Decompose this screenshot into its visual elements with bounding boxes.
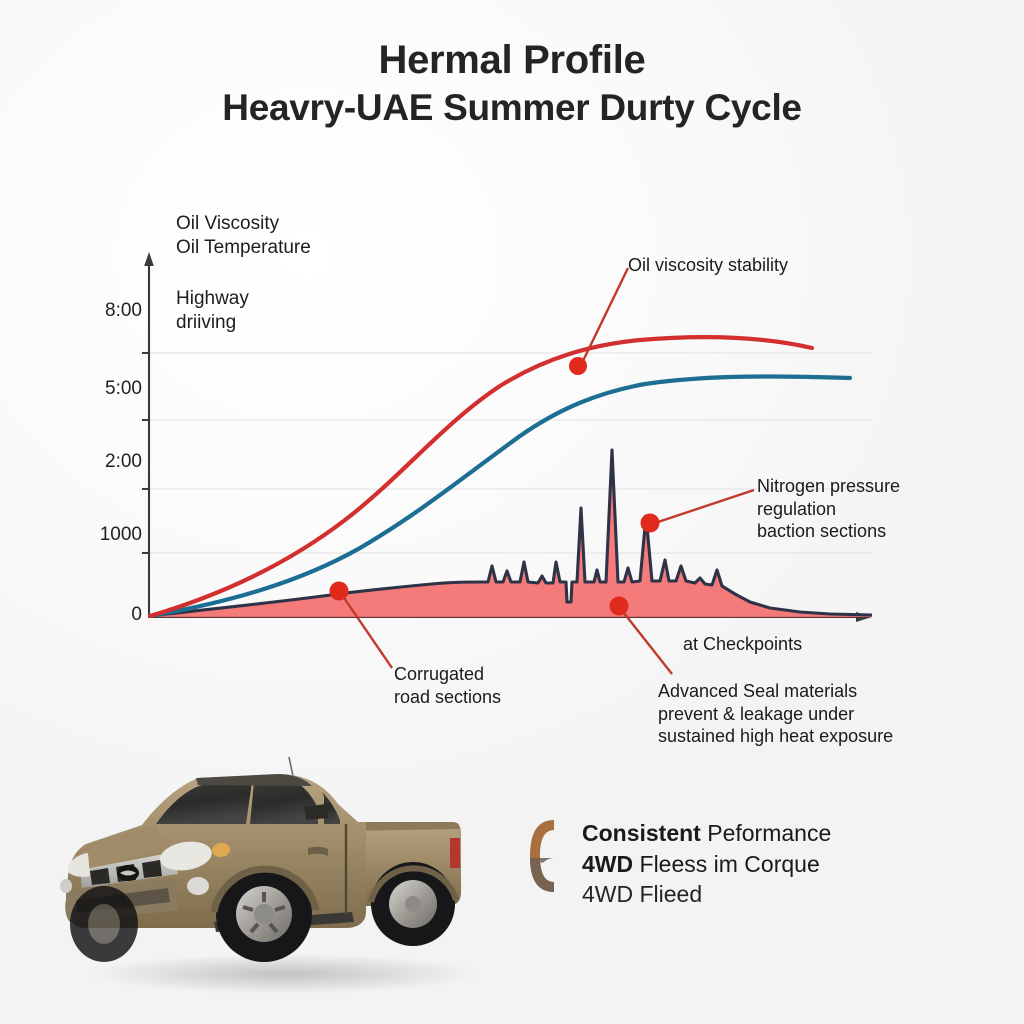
infographic-page: Hermal Profile Heavry-UAE Summer Durty C… bbox=[0, 0, 1024, 1024]
caption-line-2: 4WD Fleess im Corque bbox=[582, 849, 831, 880]
caption-line-1-bold: Consistent bbox=[582, 820, 701, 846]
annotation-corrugated-line-2: road sections bbox=[394, 686, 501, 709]
leader-viscosity-stability bbox=[580, 268, 628, 367]
dot-viscosity-stability bbox=[569, 357, 587, 375]
caption-line-1: Consistent Peformance bbox=[582, 818, 831, 849]
annotation-nitrogen-line-2: regulation bbox=[757, 498, 900, 521]
y-axis-tick-labels: 8:00 5:00 2:00 1000 0 bbox=[62, 190, 142, 790]
legend-item-oil-temperature: Oil Temperature bbox=[176, 236, 311, 260]
caption-line-1-rest: Peformance bbox=[701, 820, 831, 846]
pickup-truck-photo bbox=[46, 752, 526, 1002]
annotation-seal-line-2: prevent & leakage under bbox=[658, 703, 893, 726]
legend-item-oil-viscosity: Oil Viscosity bbox=[176, 212, 311, 236]
arrow-up-icon bbox=[144, 252, 154, 266]
truck-tail-light bbox=[450, 838, 460, 868]
y-tick-5000: 5:00 bbox=[72, 378, 142, 400]
legend-spacer bbox=[176, 261, 311, 287]
dot-seal bbox=[610, 597, 629, 616]
y-tick-8000: 8:00 bbox=[72, 300, 142, 322]
truck-fog-light bbox=[187, 877, 209, 895]
y-tick-2000: 2:00 bbox=[72, 451, 142, 473]
annotation-viscosity-stability: Oil viscosity stability bbox=[628, 254, 788, 277]
annotation-viscosity-stability-text: Oil viscosity stability bbox=[628, 254, 788, 277]
title-line-1: Hermal Profile bbox=[0, 38, 1024, 83]
title-line-2: Heavry-UAE Summer Durty Cycle bbox=[0, 87, 1024, 128]
series-oil-viscosity bbox=[150, 376, 850, 616]
caption-text: Consistent Peformance 4WD Fleess im Corq… bbox=[582, 818, 831, 910]
annotation-nitrogen-line-1: Nitrogen pressure bbox=[757, 475, 900, 498]
truck-wheel-rear bbox=[371, 862, 455, 946]
annotation-nitrogen-line-3: baction sections bbox=[757, 520, 900, 543]
legend-item-driving: driiving bbox=[176, 311, 311, 335]
annotation-corrugated-line-1: Corrugated bbox=[394, 663, 501, 686]
leader-nitrogen bbox=[652, 490, 754, 524]
caption-block: Consistent Peformance 4WD Fleess im Corq… bbox=[524, 818, 831, 910]
chart-legend: Oil Viscosity Oil Temperature Highway dr… bbox=[176, 212, 311, 335]
y-tick-1000: 1000 bbox=[72, 524, 142, 546]
annotation-nitrogen: Nitrogen pressure regulation baction sec… bbox=[757, 475, 900, 543]
annotation-seal-line-3: sustained high heat exposure bbox=[658, 725, 893, 748]
annotation-checkpoints-text: at Checkpoints bbox=[683, 633, 802, 656]
y-tick-0: 0 bbox=[72, 604, 142, 626]
page-title: Hermal Profile Heavry-UAE Summer Durty C… bbox=[0, 38, 1024, 128]
annotation-seal-line-1: Advanced Seal materials bbox=[658, 680, 893, 703]
annotation-corrugated: Corrugated road sections bbox=[394, 663, 501, 708]
caption-line-3: 4WD Flieed bbox=[582, 879, 831, 910]
truck-wheel-front-far bbox=[70, 886, 138, 962]
annotation-seal: Advanced Seal materials prevent & leakag… bbox=[658, 680, 893, 748]
truck-side-marker bbox=[60, 879, 72, 893]
truck-headlight-left bbox=[68, 853, 90, 877]
truck-ground-shadow bbox=[89, 954, 479, 994]
truck-illustration bbox=[46, 752, 526, 1002]
bracket-icon bbox=[524, 818, 560, 894]
dot-nitrogen bbox=[641, 514, 660, 533]
legend-item-highway: Highway bbox=[176, 287, 311, 311]
caption-line-2-bold: 4WD bbox=[582, 851, 633, 877]
caption-line-2-rest: Fleess im Corque bbox=[633, 851, 820, 877]
annotation-checkpoints: at Checkpoints bbox=[683, 633, 802, 656]
dot-corrugated bbox=[330, 582, 349, 601]
y-axis bbox=[142, 252, 154, 617]
truck-antenna bbox=[289, 757, 293, 776]
